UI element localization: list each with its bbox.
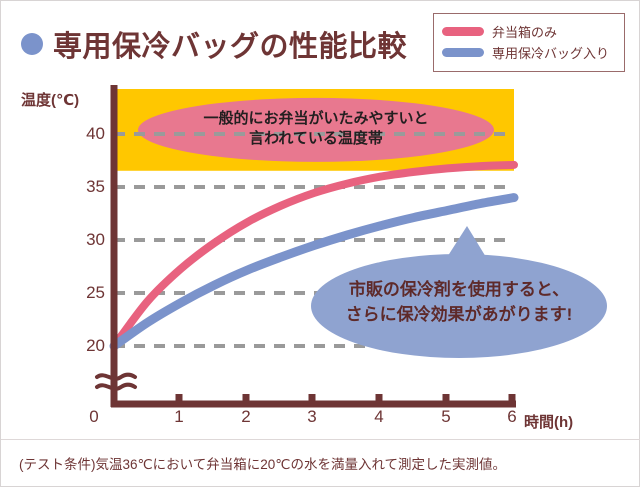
chart-figure: 専用保冷バッグの性能比較 弁当箱のみ 専用保冷バッグ入り 温度(℃) 時間(h)…: [0, 0, 640, 487]
balloon-body: [311, 254, 607, 358]
balloon-callout: [311, 226, 607, 358]
footnote-divider: [1, 439, 640, 440]
footnote-text: (テスト条件)気温36℃において弁当箱に20℃の水を満量入れて測定した実測値。: [19, 453, 506, 473]
plot-canvas: [1, 1, 640, 488]
x-axis-tick-marks: [179, 394, 512, 401]
danger-band-ellipse: [138, 98, 494, 162]
